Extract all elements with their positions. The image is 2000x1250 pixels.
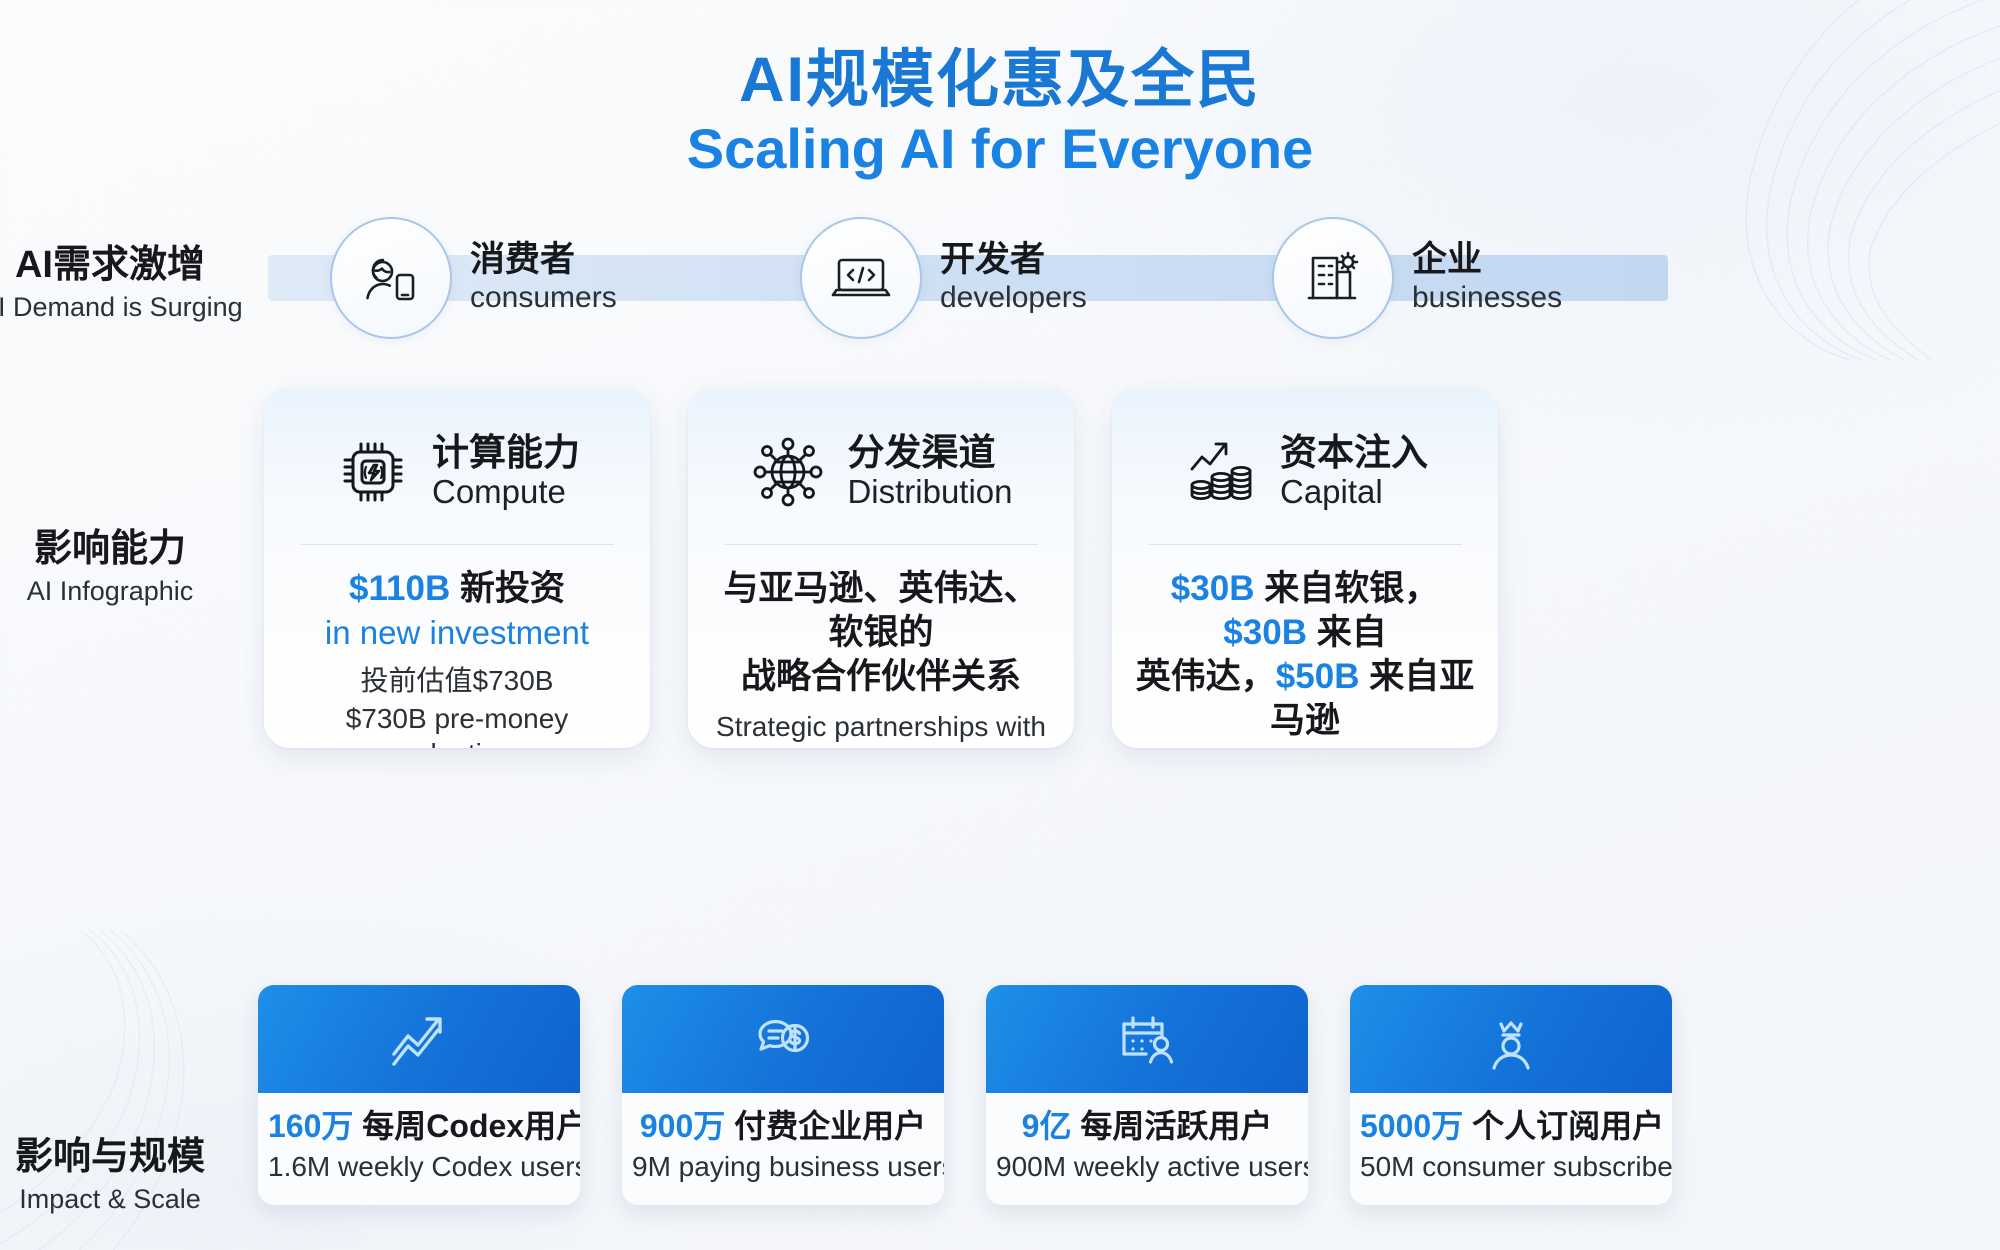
distribution-en-line1: Strategic partnerships with bbox=[710, 709, 1052, 744]
consumers-bubble bbox=[330, 217, 452, 339]
compute-title-en: Compute bbox=[432, 474, 580, 511]
weekly-active-users-cap bbox=[986, 985, 1308, 1093]
calendar-user-icon bbox=[1116, 1008, 1178, 1070]
demand-node-consumers[interactable]: 消费者 consumers bbox=[330, 217, 617, 339]
row-label-impact-cn: 影响与规模 bbox=[0, 1136, 240, 1179]
codex-users-body: 160万 每周Codex用户 1.6M weekly Codex users bbox=[258, 1093, 580, 1205]
globe-network-icon bbox=[749, 433, 827, 511]
pillar-card-distribution[interactable]: 分发渠道 Distribution 与亚马逊、英伟达、软银的 战略合作伙伴关系 … bbox=[688, 388, 1074, 748]
distribution-body: 与亚马逊、英伟达、软银的 战略合作伙伴关系 Strategic partners… bbox=[710, 567, 1052, 748]
page-title: AI规模化惠及全民 Scaling AI for Everyone bbox=[0, 46, 2000, 181]
capital-amount-nvidia: $30B bbox=[1223, 613, 1307, 652]
businesses-label-en: businesses bbox=[1412, 281, 1562, 316]
capital-cn-line1-b: 来自软银， bbox=[1254, 569, 1439, 608]
consumers-label-en: consumers bbox=[470, 281, 617, 316]
row-label-infographic: 影响能力 AI Infographic bbox=[0, 528, 240, 607]
crown-user-icon bbox=[1480, 1008, 1542, 1070]
consumers-label-cn: 消费者 bbox=[470, 241, 617, 280]
consumer-subscribers-cn: 5000万 个人订阅用户 bbox=[1360, 1109, 1662, 1145]
weekly-active-users-en: 900M weekly active users bbox=[996, 1151, 1298, 1183]
compute-title: 计算能力 Compute bbox=[432, 433, 580, 511]
compute-header: 计算能力 Compute bbox=[286, 422, 628, 522]
consumer-subscribers-en: 50M consumer subscribers bbox=[1360, 1151, 1662, 1183]
capital-cn-line1-d: 来自 bbox=[1307, 613, 1387, 652]
consumer-subscribers-label-cn: 个人订阅用户 bbox=[1463, 1108, 1664, 1144]
compute-divider bbox=[300, 544, 614, 545]
stat-card-consumer-subscribers[interactable]: 5000万 个人订阅用户 50M consumer subscribers bbox=[1350, 985, 1672, 1205]
business-users-cap bbox=[622, 985, 944, 1093]
consumer-subscribers-cap bbox=[1350, 985, 1672, 1093]
business-users-body: 900万 付费企业用户 9M paying business users bbox=[622, 1093, 944, 1205]
capital-header: 资本注入 Capital bbox=[1134, 422, 1476, 522]
trending-up-arrow-icon bbox=[388, 1008, 450, 1070]
row-label-demand-en: AI Demand is Surging bbox=[0, 291, 240, 323]
capital-cn-line2: 英伟达，$50B 来自亚马逊 bbox=[1134, 655, 1476, 743]
compute-sub-cn: 投前估值$730B bbox=[286, 663, 628, 698]
page-title-cn: AI规模化惠及全民 bbox=[0, 46, 2000, 114]
weekly-active-users-label-cn: 每周活跃用户 bbox=[1071, 1108, 1272, 1144]
row-label-demand-cn: AI需求激增 bbox=[0, 244, 240, 287]
weekly-active-users-number: 9亿 bbox=[1022, 1108, 1072, 1144]
businesses-text: 企业 businesses bbox=[1412, 241, 1562, 316]
codex-users-cn: 160万 每周Codex用户 bbox=[268, 1109, 570, 1145]
compute-highlight-en: in new investment bbox=[286, 613, 628, 653]
compute-highlight: $110B 新投资 bbox=[286, 567, 628, 611]
consumer-subscribers-number: 5000万 bbox=[1360, 1108, 1463, 1144]
stat-card-list: 160万 每周Codex用户 1.6M weekly Codex users 9… bbox=[258, 985, 1672, 1205]
capital-divider bbox=[1148, 544, 1462, 545]
codex-users-number: 160万 bbox=[268, 1108, 353, 1144]
distribution-title-en: Distribution bbox=[847, 474, 1012, 511]
stat-card-codex-users[interactable]: 160万 每周Codex用户 1.6M weekly Codex users bbox=[258, 985, 580, 1205]
stat-card-weekly-active-users[interactable]: 9亿 每周活跃用户 900M weekly active users bbox=[986, 985, 1308, 1205]
cpu-chip-bolt-icon bbox=[334, 433, 412, 511]
compute-highlight-cn: 新投资 bbox=[460, 569, 565, 608]
business-users-number: 900万 bbox=[640, 1108, 725, 1144]
codex-users-cap bbox=[258, 985, 580, 1093]
distribution-cn-line2: 战略合作伙伴关系 bbox=[710, 655, 1052, 699]
compute-title-cn: 计算能力 bbox=[432, 433, 580, 473]
capital-title: 资本注入 Capital bbox=[1280, 433, 1428, 511]
developers-text: 开发者 developers bbox=[940, 241, 1087, 316]
distribution-title-cn: 分发渠道 bbox=[847, 433, 1012, 473]
laptop-code-icon bbox=[825, 242, 897, 314]
chat-dollar-icon bbox=[752, 1008, 814, 1070]
businesses-bubble bbox=[1272, 217, 1394, 339]
developers-label-en: developers bbox=[940, 281, 1087, 316]
demand-node-developers[interactable]: 开发者 developers bbox=[800, 217, 1087, 339]
codex-users-en: 1.6M weekly Codex users bbox=[268, 1151, 570, 1183]
row-label-infographic-cn: 影响能力 bbox=[0, 528, 240, 571]
capital-title-cn: 资本注入 bbox=[1280, 433, 1428, 473]
demand-node-businesses[interactable]: 企业 businesses bbox=[1272, 217, 1562, 339]
distribution-title: 分发渠道 Distribution bbox=[847, 433, 1012, 511]
compute-highlight-number: $110B bbox=[349, 569, 450, 608]
compute-sub-en: $730B pre-money valuation bbox=[286, 701, 628, 748]
row-label-impact-en: Impact & Scale bbox=[0, 1183, 240, 1215]
pillar-card-capital[interactable]: 资本注入 Capital $30B 来自软银，$30B 来自 英伟达，$50B … bbox=[1112, 388, 1498, 748]
developers-label-cn: 开发者 bbox=[940, 241, 1087, 280]
consumers-text: 消费者 consumers bbox=[470, 241, 617, 316]
page-title-en: Scaling AI for Everyone bbox=[0, 118, 2000, 181]
coins-growth-arrow-icon bbox=[1182, 433, 1260, 511]
weekly-active-users-body: 9亿 每周活跃用户 900M weekly active users bbox=[986, 1093, 1308, 1205]
capital-amount-softbank: $30B bbox=[1171, 569, 1255, 608]
capital-cn-line2-a: 英伟达， bbox=[1136, 657, 1276, 696]
pillar-card-compute[interactable]: 计算能力 Compute $110B 新投资 in new investment… bbox=[264, 388, 650, 748]
distribution-cn-line1: 与亚马逊、英伟达、软银的 bbox=[710, 567, 1052, 655]
business-users-en: 9M paying business users bbox=[632, 1151, 934, 1183]
businesses-label-cn: 企业 bbox=[1412, 241, 1562, 280]
row-label-infographic-en: AI Infographic bbox=[0, 575, 240, 607]
codex-users-label-cn: 每周Codex用户 bbox=[353, 1108, 580, 1144]
weekly-active-users-cn: 9亿 每周活跃用户 bbox=[996, 1109, 1298, 1145]
capital-amount-amazon: $50B bbox=[1276, 657, 1360, 696]
capital-body: $30B 来自软银，$30B 来自 英伟达，$50B 来自亚马逊 $30B fr… bbox=[1134, 567, 1476, 748]
business-users-cn: 900万 付费企业用户 bbox=[632, 1109, 934, 1145]
row-label-demand: AI需求激增 AI Demand is Surging bbox=[0, 244, 240, 323]
developers-bubble bbox=[800, 217, 922, 339]
distribution-en-line2: Amazon, NVIDIA, SoftBank bbox=[710, 747, 1052, 748]
capital-cn-line1: $30B 来自软银，$30B 来自 bbox=[1134, 567, 1476, 655]
office-building-gear-icon bbox=[1297, 242, 1369, 314]
stat-card-business-users[interactable]: 900万 付费企业用户 9M paying business users bbox=[622, 985, 944, 1205]
business-users-label-cn: 付费企业用户 bbox=[725, 1108, 926, 1144]
row-label-impact: 影响与规模 Impact & Scale bbox=[0, 1136, 240, 1215]
consumer-subscribers-body: 5000万 个人订阅用户 50M consumer subscribers bbox=[1350, 1093, 1672, 1205]
pillar-card-list: 计算能力 Compute $110B 新投资 in new investment… bbox=[264, 388, 1498, 748]
compute-body: $110B 新投资 in new investment 投前估值$730B $7… bbox=[286, 567, 628, 748]
person-mobile-icon bbox=[355, 242, 427, 314]
capital-title-en: Capital bbox=[1280, 474, 1428, 511]
distribution-header: 分发渠道 Distribution bbox=[710, 422, 1052, 522]
distribution-divider bbox=[724, 544, 1038, 545]
